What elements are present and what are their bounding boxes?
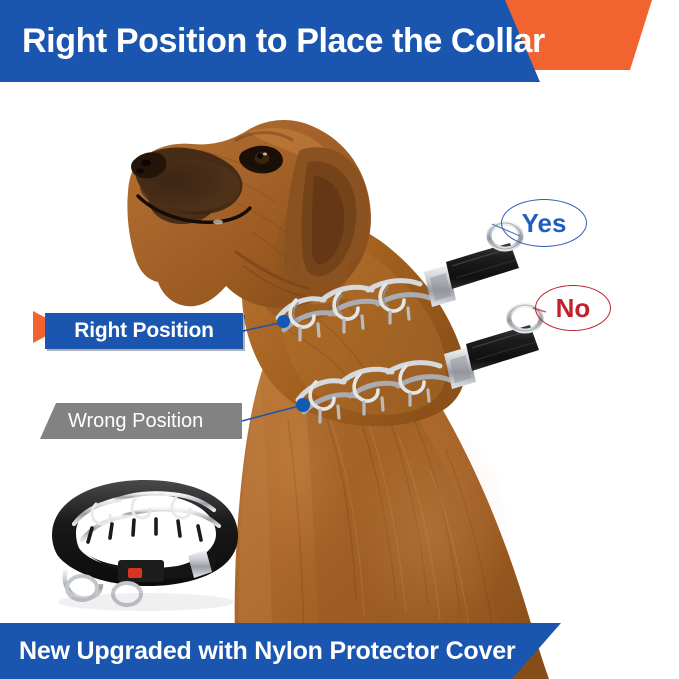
header-banner: Right Position to Place the Collar: [0, 0, 679, 82]
callout-dot-wrong: [296, 398, 310, 412]
buckle-release: [128, 568, 142, 578]
product-photo: [52, 480, 238, 611]
footer-banner: New Upgraded with Nylon Protector Cover: [0, 623, 679, 679]
badge-yes: Yes: [501, 199, 587, 247]
label-right-position[interactable]: Right Position: [45, 313, 243, 349]
label-wrong-position[interactable]: Wrong Position: [40, 403, 242, 439]
page-title: Right Position to Place the Collar: [0, 0, 679, 82]
page-title-main: Right Position to Place the: [22, 22, 442, 61]
page-title-accent: Collar: [451, 22, 545, 61]
footer-title: New Upgraded with Nylon Protector Cover: [0, 623, 679, 679]
badge-no: No: [535, 285, 611, 331]
callout-dot-right: [277, 315, 290, 328]
promo-image-root: Right Position to Place the Collar Right…: [0, 0, 679, 679]
